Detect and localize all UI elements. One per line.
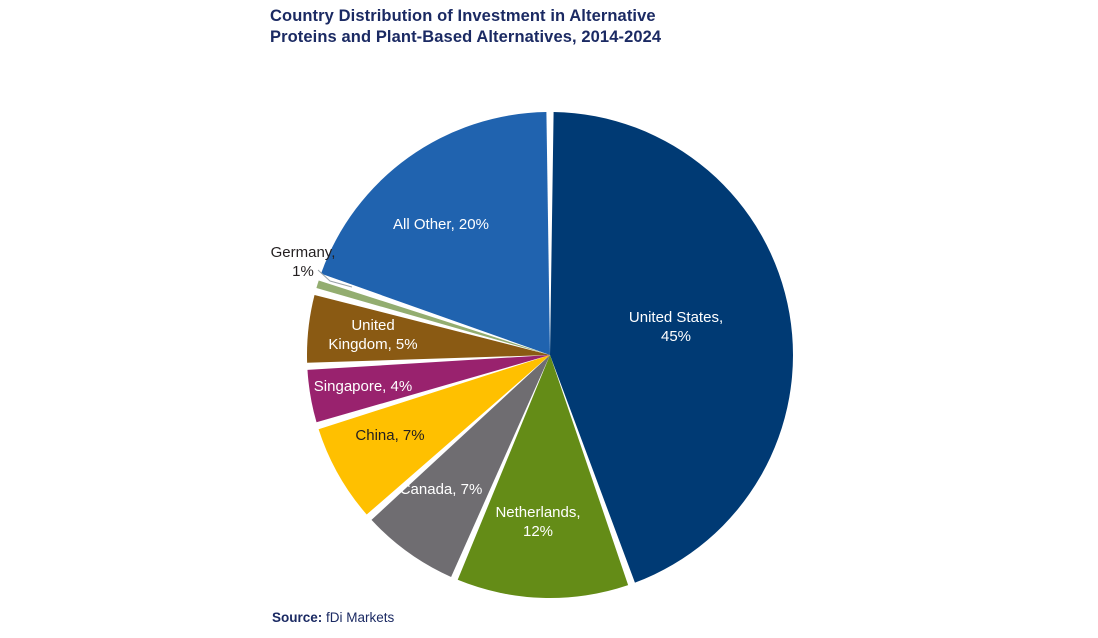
source-label: Source: (272, 610, 322, 625)
pie-slice-label: Canada, 7% (400, 481, 483, 498)
pie-slice-label: Singapore, 4% (314, 378, 412, 395)
source-note: Source: fDi Markets (272, 610, 394, 625)
pie-chart: United States,45%Netherlands,12%Canada, … (0, 0, 1098, 638)
source-value: fDi Markets (322, 610, 394, 625)
pie-slice-label: China, 7% (355, 427, 424, 444)
pie-slice-label: All Other, 20% (393, 216, 489, 233)
